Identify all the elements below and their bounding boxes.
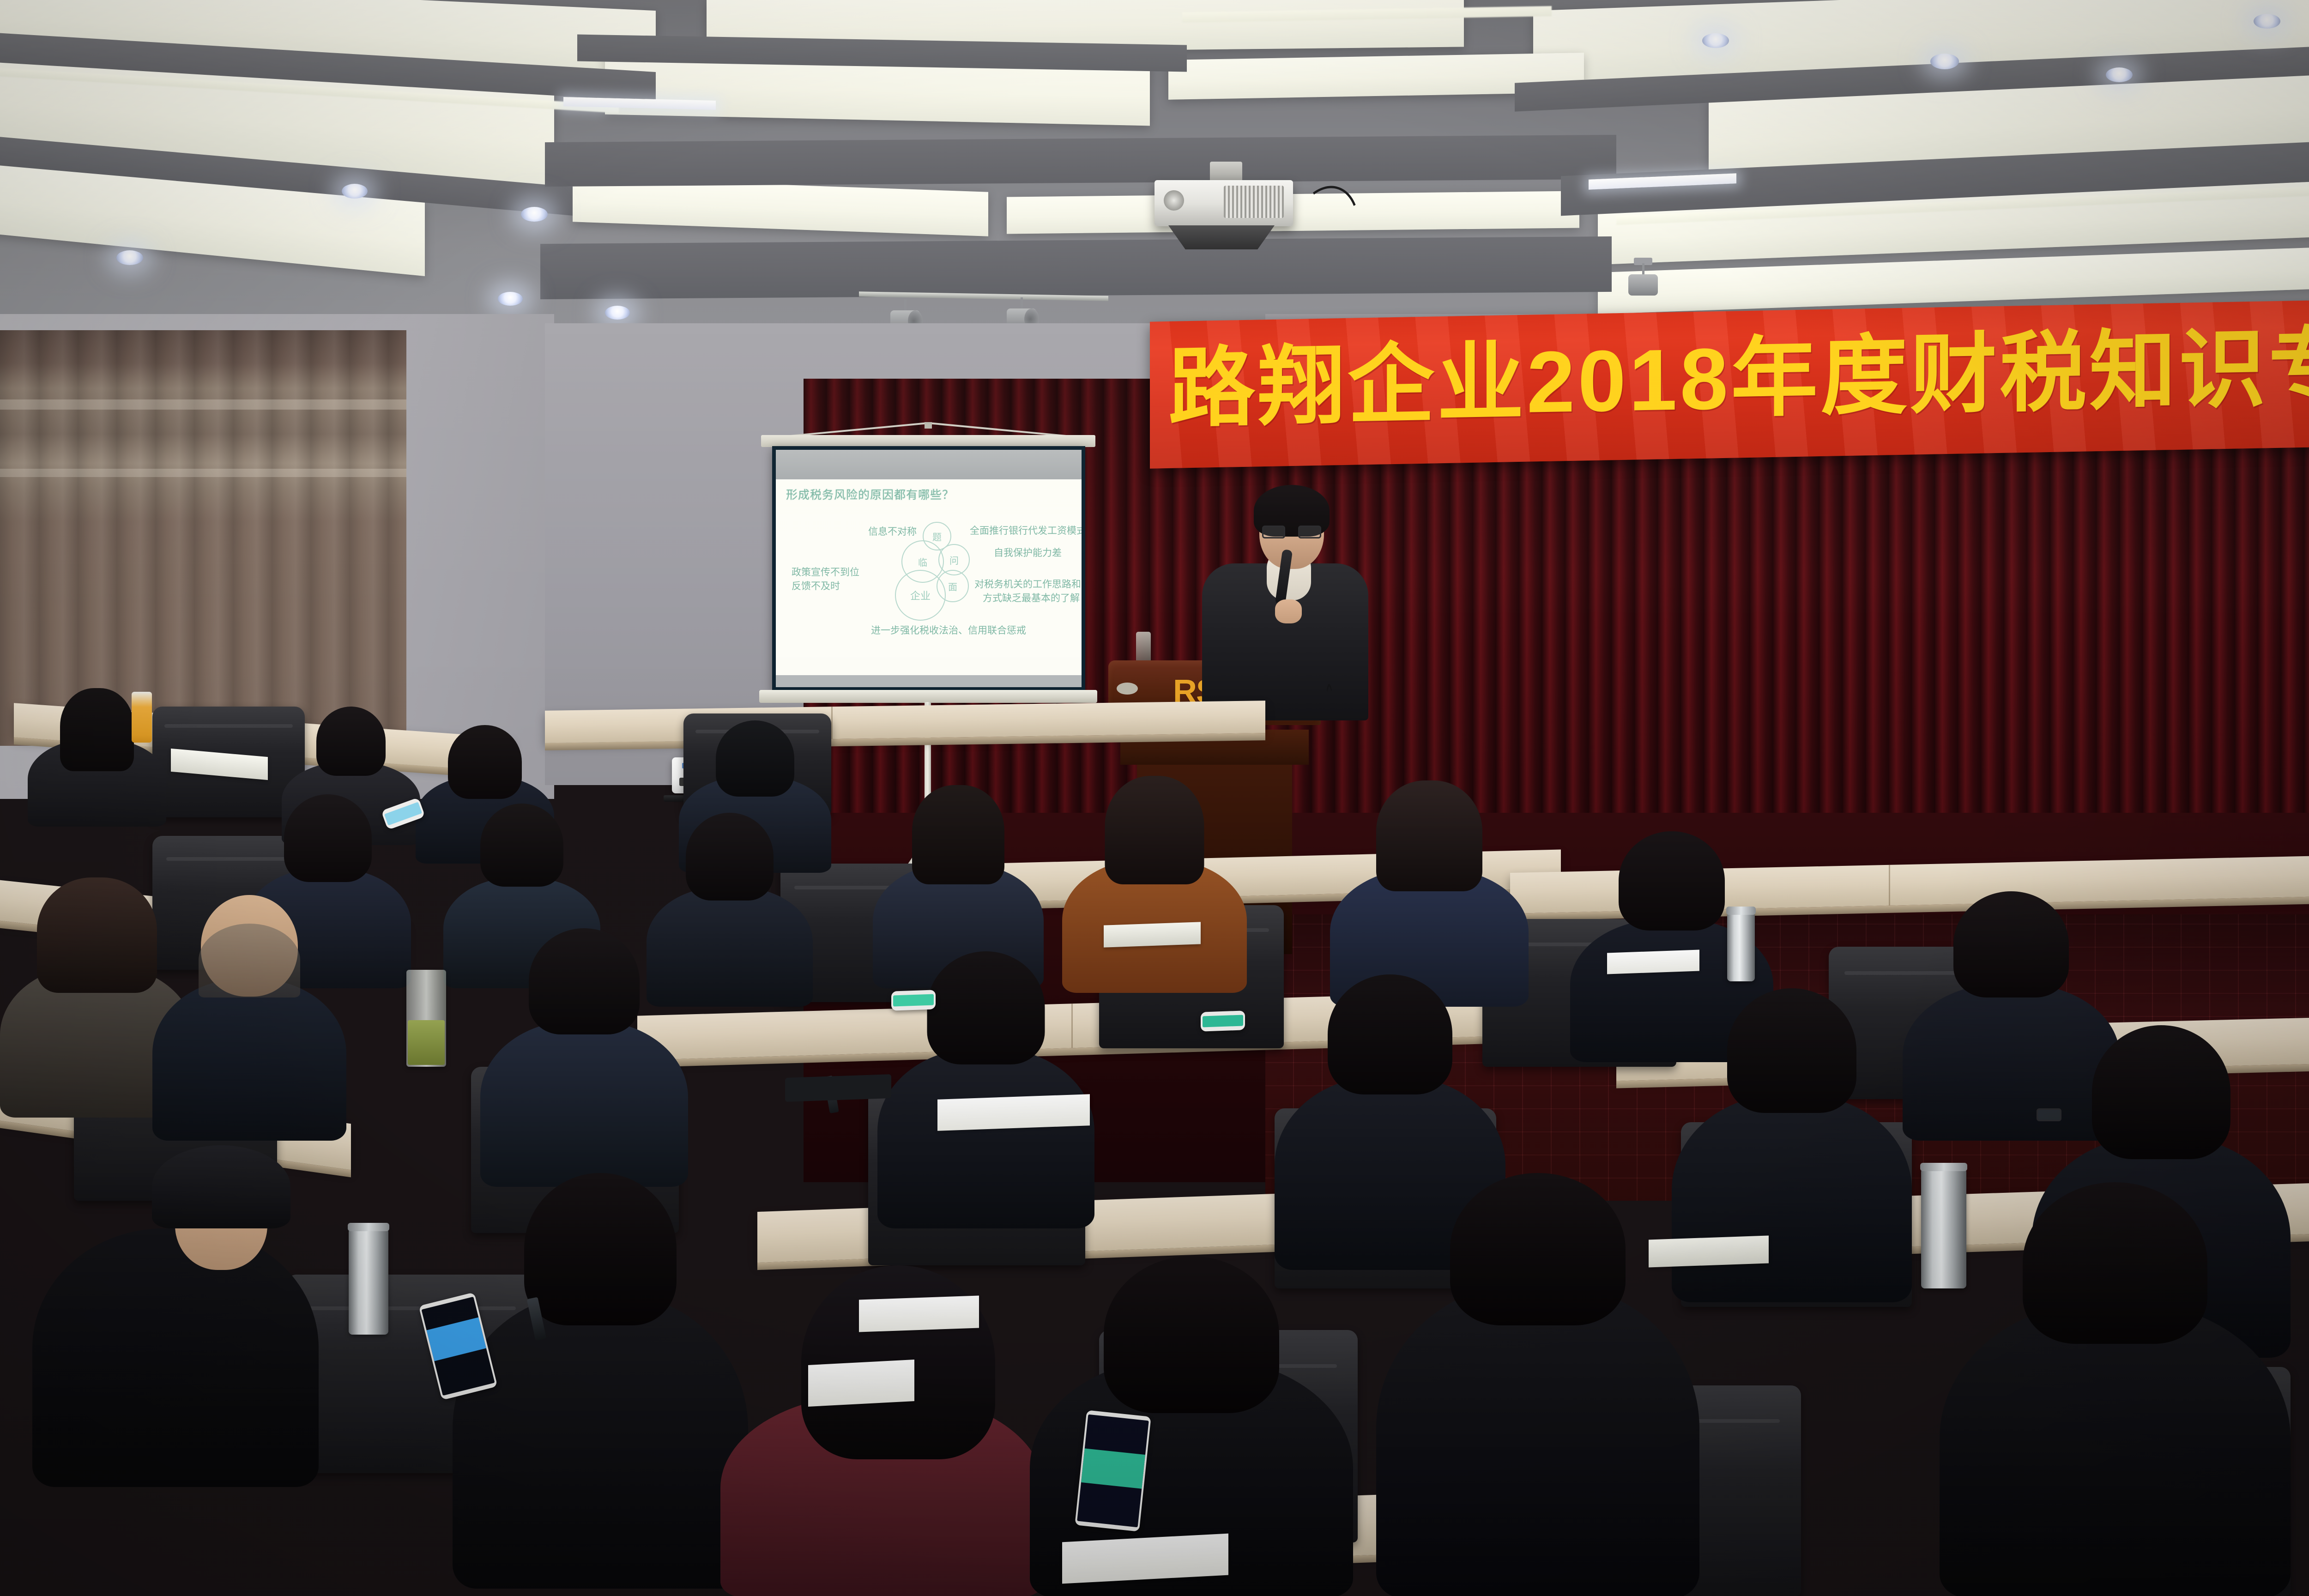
attendee [1376, 1173, 1699, 1596]
attendee-coat [1376, 1284, 1699, 1596]
banner-title: 路翔企业2018年度财税知识专题讲座 [1168, 323, 2309, 432]
attendee-hair [199, 924, 300, 997]
attendee-hair [927, 951, 1045, 1064]
screen-top-bar [761, 435, 1095, 447]
notebook [1649, 1235, 1769, 1267]
projector-vent [1224, 186, 1284, 218]
ceiling-downlight [521, 207, 548, 222]
slide-title: 形成税务风险的原因都有哪些？ [786, 486, 954, 502]
stainless-thermos [349, 1228, 388, 1335]
ceiling-downlight [605, 306, 630, 320]
slide-note: 方式缺乏最基本的了解 [983, 592, 1080, 605]
phone-screen [1077, 1415, 1149, 1528]
attendee [480, 928, 688, 1187]
handout-paper [859, 1295, 979, 1332]
ceiling-beam [545, 135, 1616, 187]
attendee-coat [480, 1021, 688, 1187]
attendee-hair [1376, 780, 1482, 891]
smartphone[interactable] [1075, 1410, 1151, 1531]
attendee-hair [1450, 1173, 1626, 1325]
slide-top-band [776, 450, 1082, 479]
attendee-hair [37, 877, 157, 993]
attendee-hair [1953, 891, 2069, 997]
juice-bottle [132, 692, 152, 743]
phone-screen [1203, 1015, 1243, 1027]
attendee-hair [2023, 1182, 2207, 1344]
smartphone[interactable] [1201, 1010, 1245, 1031]
screen-bottom-bar [759, 690, 1097, 703]
attendee-hair [284, 794, 372, 882]
lectern-badge [1117, 683, 1138, 695]
ceiling-downlight [2106, 67, 2133, 82]
phone-screen [893, 994, 934, 1006]
window-curtain [0, 330, 406, 746]
ceiling-downlight [498, 292, 523, 306]
water-bottle [1136, 632, 1151, 663]
ceiling-beam [540, 236, 1612, 299]
slide-note: 进一步强化税收法治、信用联合惩戒 [871, 624, 1026, 637]
handout-paper [1607, 950, 1699, 974]
slide-note: 全面推行银行代发工资模式 [970, 525, 1082, 538]
attendee-hair [1619, 831, 1725, 931]
attendee-hair [524, 1173, 677, 1325]
attendee-hair [1105, 776, 1204, 884]
attendee [1940, 1182, 2291, 1596]
attendee-coat [877, 1048, 1094, 1228]
glasses-icon [2037, 1108, 2087, 1121]
stainless-thermos [1727, 912, 1755, 981]
attendee-cap [152, 1145, 290, 1228]
attendee-hair [2092, 1025, 2230, 1159]
seminar-photo-scene: 路翔企业2018年度财税知识专题讲座 形成税务风险的原因都有哪些？ 题 问 临 … [0, 0, 2309, 1596]
ceiling-downlight [1930, 54, 1959, 69]
slide-bubble: 企业 [895, 570, 946, 621]
presenter [1189, 476, 1383, 716]
attendee-hair [912, 785, 1004, 884]
attendee-hair [1727, 988, 1856, 1113]
slide-bottom-band [776, 675, 1082, 687]
attendee-hair [316, 707, 386, 776]
attendee-hair [1328, 974, 1452, 1094]
attendee-hair [716, 720, 794, 797]
attendee-hair [448, 725, 522, 799]
glasses-icon [1262, 526, 1321, 538]
ceiling-panel [573, 177, 988, 236]
attendee-coat [453, 1293, 748, 1589]
attendee-coat [1672, 1094, 1912, 1302]
attendee-coat [1940, 1302, 2291, 1596]
slide-note: 政策宣传不到位 [792, 566, 859, 579]
projector-lens [1164, 190, 1184, 211]
presenter-hand [1275, 599, 1302, 623]
handout-paper [937, 1094, 1090, 1131]
attendee-hair [480, 804, 563, 887]
pendant-spotlight [1628, 263, 1658, 300]
event-banner: 路翔企业2018年度财税知识专题讲座 [1150, 299, 2309, 468]
ceiling-downlight [2254, 14, 2280, 29]
attendee-coat [152, 979, 346, 1141]
screen-surface: 形成税务风险的原因都有哪些？ 题 问 临 面 企业 信息不对称 全面推行银行代发… [776, 450, 1082, 687]
slide-note: 自我保护能力差 [994, 547, 1062, 560]
attendee-hair [529, 928, 640, 1034]
slide-note: 对税务机关的工作思路和 [974, 578, 1081, 591]
ceiling-downlight [1702, 33, 1729, 48]
ceiling-downlight [116, 250, 143, 265]
slide-note: 反馈不及时 [792, 580, 840, 593]
smartphone[interactable] [891, 990, 936, 1010]
handout-paper [1062, 1534, 1228, 1584]
ceiling-projector [1154, 162, 1302, 245]
attendee [720, 1293, 1044, 1596]
attendee-hair [60, 688, 134, 771]
slide-canvas: 形成税务风险的原因都有哪些？ 题 问 临 面 企业 信息不对称 全面推行银行代发… [776, 479, 1082, 675]
ceiling-downlight [342, 184, 368, 199]
attendee-hair [686, 813, 774, 901]
screen-frame: 形成税务风险的原因都有哪些？ 题 问 临 面 企业 信息不对称 全面推行银行代发… [772, 446, 1085, 691]
attendee [1330, 780, 1529, 1007]
attendee [152, 891, 346, 1141]
tablet-device[interactable] [785, 1074, 891, 1102]
handout-paper [808, 1360, 914, 1407]
slide-note: 信息不对称 [868, 526, 917, 538]
notebook [1104, 922, 1201, 947]
stainless-thermos [1921, 1168, 1966, 1288]
attendee-coat [32, 1228, 319, 1487]
attendee [453, 1173, 748, 1589]
glass-tea-mug [406, 970, 446, 1067]
attendee-hair [1104, 1256, 1279, 1413]
projector-underside [1168, 225, 1275, 249]
attendee [32, 1118, 319, 1487]
